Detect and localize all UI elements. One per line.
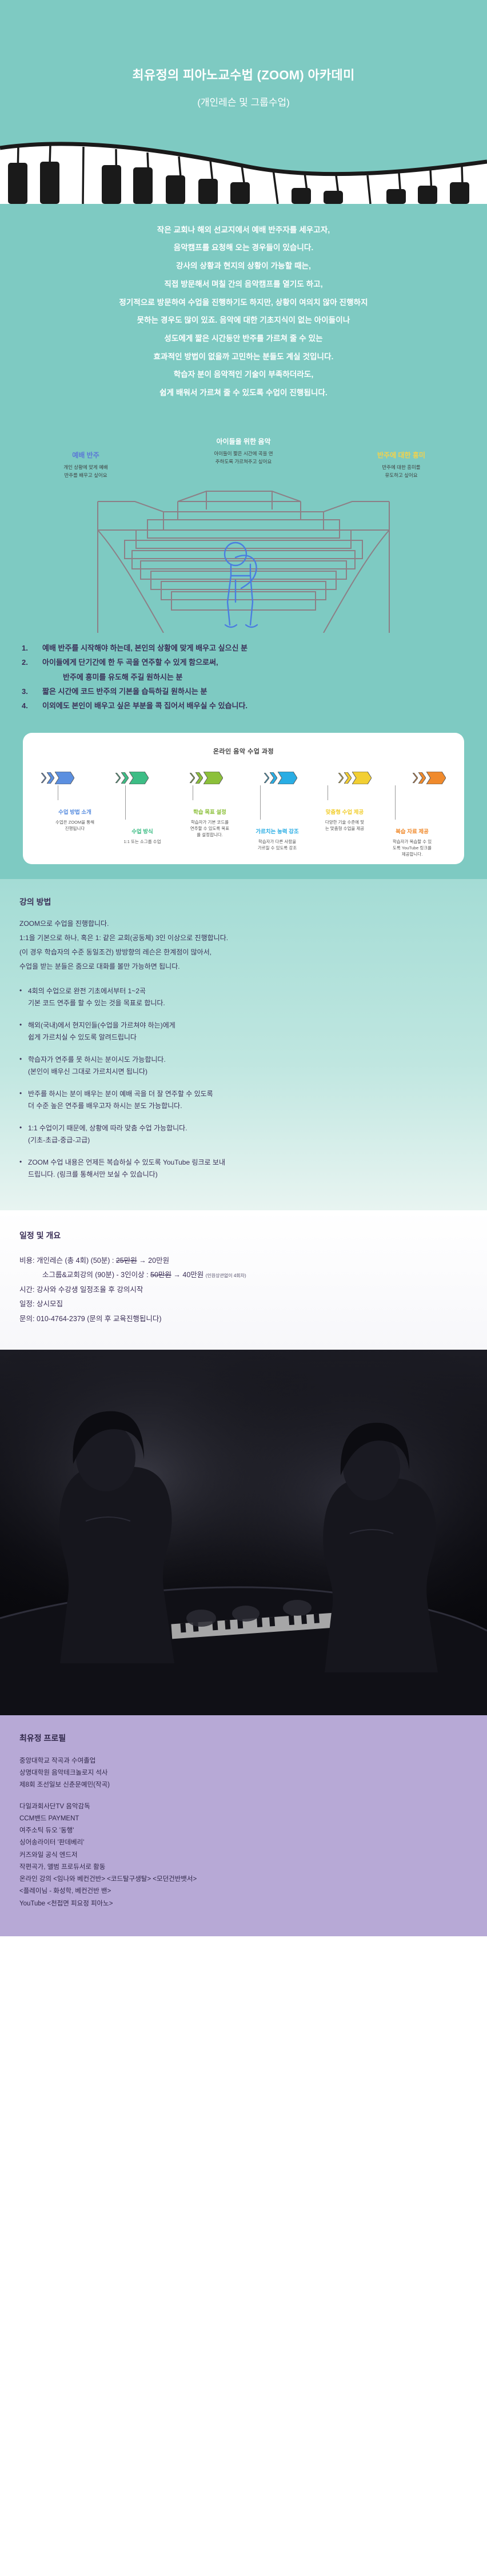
chevron-right-icon: [270, 772, 277, 784]
process-step-2: 수업 방식1:1 또는 소그룹 수업: [106, 829, 178, 845]
chevron-right-icon: [115, 773, 121, 783]
intro-line: 강사의 상황과 현지의 상황이 가능할 때는,: [16, 257, 471, 275]
piano-keys-banner: [0, 132, 487, 204]
bullet-subtext: 더 수준 높은 연주를 배우고자 하시는 분도 가능합니다.: [28, 1100, 468, 1112]
spacer: [0, 864, 487, 879]
process-chevron-6: [413, 772, 446, 784]
list-index: 1.: [22, 641, 34, 655]
bullet-subtext: 기본 코드 연주를 할 수 있는 것을 목표로 합니다.: [28, 997, 468, 1009]
method-bullet: 해외(국내)에서 현지인들(수업을 가르쳐야 하는)에게쉽게 가르치실 수 있도…: [19, 1020, 468, 1044]
profile-line: 온라인 강의 <임나와 베컨건반> <코드탈구생탈> <모던건반뱃서>: [19, 1873, 468, 1885]
step-title: 맞춤형 수업 제공: [309, 809, 381, 816]
bullet-text: 반주를 하시는 분이 배우는 분이 예배 곡을 더 잘 연주할 수 있도록: [28, 1090, 213, 1098]
target-audience-list: 1. 예배 반주를 시작해야 하는데, 본인의 상황에 맞게 배우고 싶으신 분…: [0, 633, 487, 733]
bullet-text: ZOOM 수업 내용은 언제든 복습하실 수 있도록 YouTube 링크로 보…: [28, 1158, 225, 1166]
intro-line: 직접 방문해서 며칠 간의 음악캠프를 열기도 하고,: [16, 275, 471, 294]
chevron-right-icon: [129, 772, 149, 784]
profile-line: 상명대학원 음악테크놀로지 석사: [19, 1767, 468, 1779]
profile-line: 커즈와일 공식 엔드저: [19, 1849, 468, 1861]
chevron-right-icon: [426, 772, 446, 784]
list-text: 예배 반주를 시작해야 하는데, 본인의 상황에 맞게 배우고 싶으신 분: [42, 641, 248, 655]
bullet-text: 해외(국내)에서 현지인들(수업을 가르쳐야 하는)에게: [28, 1021, 175, 1029]
method-lead-line: 1:1을 기본으로 하나, 혹은 1: 같은 교회(공동체) 3인 이상으로 진…: [19, 932, 468, 944]
method-lead-line: (이 경우 학습자의 수준 동일조건) 방방향의 레슨은 한계점이 많아서,: [19, 946, 468, 958]
cost-note: (인원상관없이 4회차): [206, 1273, 246, 1278]
page-title: 최유정의 피아노교수법 (ZOOM) 아카데미: [0, 67, 487, 84]
cost-old-price: 25만원: [116, 1257, 137, 1265]
profile-line: CCM밴드 PAYMENT: [19, 1813, 468, 1825]
process-title: 온라인 음악 수업 과정: [23, 747, 464, 756]
profile-section: 최유정 프로필 중앙대학교 작곡과 수여졸업상명대학원 음악테크놀로지 석사제8…: [0, 1715, 487, 1936]
schedule-contact: 문의: 010-4764-2379 (문의 후 교육진행됩니다): [19, 1312, 468, 1327]
feature-title: 반주에 대한 흥미: [347, 451, 456, 460]
method-bullet: 반주를 하시는 분이 배우는 분이 예배 곡을 더 잘 연주할 수 있도록더 수…: [19, 1088, 468, 1112]
list-index: 4.: [22, 699, 34, 713]
method-bullet: 4회의 수업으로 완전 기초에서부터 1~2곡기본 코드 연주를 할 수 있는 …: [19, 985, 468, 1009]
section-heading-method: 강의 방법: [19, 896, 468, 908]
profile-education-block: 중앙대학교 작곡과 수여졸업상명대학원 음악테크놀로지 석사제8회 조선일보 신…: [19, 1755, 468, 1792]
method-bullet-list: 4회의 수업으로 완전 기초에서부터 1~2곡기본 코드 연주를 할 수 있는 …: [19, 985, 468, 1181]
step-title: 수업 방식: [106, 829, 178, 836]
method-bullet: 1:1 수업이기 때문에, 상황에 따라 맞춤 수업 가능합니다.(기초-초급-…: [19, 1122, 468, 1146]
chevron-right-icon: [121, 772, 129, 784]
cost-line-group: 소그룹&교회강의 (90분) - 3인이상 : 50만원 → 40만원 (인원상…: [19, 1268, 468, 1283]
process-chevron-5: [338, 772, 372, 784]
step-description: 다양한 기술 수준에 맞는 맞춤형 수업을 제공: [309, 819, 381, 832]
bullet-subtext: (본인이 배우신 그대로 가르치시면 됩니다): [28, 1066, 468, 1078]
chevron-right-icon: [195, 772, 203, 784]
process-chevron-3: [190, 772, 223, 784]
feature-desc: 개인 상황에 맞게 예배반주를 배우고 싶어요: [31, 464, 140, 479]
intro-line: 못하는 경우도 많이 있죠. 음악에 대한 기초지식이 없는 아이들이나: [16, 311, 471, 330]
hero-section: 최유정의 피아노교수법 (ZOOM) 아카데미 (개인레슨 및 그룹수업): [0, 0, 487, 132]
online-process-card: 온라인 음악 수업 과정 수업 방법 소개수업은 ZOOM을 통해진행됩니다수업…: [23, 733, 464, 864]
chevron-right-icon: [55, 772, 74, 784]
cost-old-price: 50만원: [150, 1271, 171, 1279]
list-index: 2.: [22, 655, 34, 684]
schedule-date: 일정: 상시모집: [19, 1297, 468, 1312]
feature-title: 아이들을 위한 음악: [189, 438, 298, 447]
feature-music-for-children: 아이들을 위한 음악 아이들이 짧은 시간에 곡을 연주하도록 가르쳐주고 싶어…: [189, 438, 298, 466]
intro-line: 학습자 분이 음악적인 기술이 부족하더라도,: [16, 366, 471, 384]
list-text: 짧은 시간에 코드 반주의 기본을 습득하길 원하시는 분: [42, 684, 207, 699]
feature-worship-accompaniment: 예배 반주 개인 상황에 맞게 예배반주를 배우고 싶어요: [31, 451, 140, 479]
profile-line: 중앙대학교 작곡과 수여졸업: [19, 1755, 468, 1767]
bullet-subtext: 쉽게 가르치실 수 있도록 알려드립니다: [28, 1032, 468, 1044]
cost-new-price: → 20만원: [137, 1257, 169, 1265]
process-chevron-2: [115, 772, 149, 784]
profile-career-block: 다일과회사단TV 음악감독CCM밴드 PAYMENT여주소틱 듀오 '동행'싱어…: [19, 1801, 468, 1910]
step-description: 학습자가 복습할 수 있도록 YouTube 링크를제공합니다.: [376, 838, 448, 858]
profile-line: 제8회 조선일보 신춘문예민(작곡): [19, 1779, 468, 1791]
chevron-right-icon: [413, 773, 418, 783]
method-lead-line: ZOOM으로 수업을 진행합니다.: [19, 918, 468, 930]
process-chevron-4: [264, 772, 297, 784]
list-text-cont: 반주에 흥미를 유도해 주길 원하시는 분: [42, 670, 218, 684]
process-step-1: 수업 방법 소개수업은 ZOOM을 통해진행됩니다: [39, 809, 111, 832]
person-on-stairs-icon: [83, 490, 404, 633]
bullet-text: 4회의 수업으로 완전 기초에서부터 1~2곡: [28, 987, 146, 995]
intro-line: 효과적인 방법이 없을까 고민하는 분들도 계실 것입니다.: [16, 348, 471, 366]
list-item: 4. 이외에도 본인이 배우고 싶은 부분을 콕 집어서 배우실 수 있습니다.: [22, 699, 487, 713]
step-title: 가르치는 능력 강조: [241, 829, 313, 836]
list-text: 아이들에게 단기간에 한 두 곡을 연주할 수 있게 함으로써, 반주에 흥미를…: [42, 655, 218, 684]
step-description: 학습자가 기본 코드를연주할 수 있도록 목표를 설정합니다.: [174, 819, 246, 838]
feature-desc: 반주에 대한 흥미를유도하고 싶어요: [347, 464, 456, 479]
method-bullet: 학습자가 연주를 못 하시는 분이시도 가능합니다.(본인이 배우신 그대로 가…: [19, 1054, 468, 1078]
process-step-6: 복습 자료 제공학습자가 복습할 수 있도록 YouTube 링크를제공합니다.: [376, 829, 448, 858]
chevron-right-icon: [338, 773, 344, 783]
chevron-right-icon: [418, 772, 426, 784]
profile-line: 싱어송라이터 '판데베리': [19, 1837, 468, 1849]
step-description: 수업은 ZOOM을 통해진행됩니다: [39, 819, 111, 832]
profile-line: 작편곡가, 앨범 프로듀서로 활동: [19, 1861, 468, 1873]
stairs-illustration: [0, 490, 487, 633]
feature-desc: 아이들이 짧은 시간에 곡을 연주하도록 가르쳐주고 싶어요: [189, 450, 298, 465]
intro-line: 작은 교회나 해외 선교지에서 예배 반주자를 세우고자,: [16, 221, 471, 239]
cost-line-individual: 비용: 개인레슨 (총 4회) (50분) : 25만원 → 20만원: [19, 1254, 468, 1269]
list-text-main: 아이들에게 단기간에 한 두 곡을 연주할 수 있게 함으로써,: [42, 658, 218, 667]
list-item: 1. 예배 반주를 시작해야 하는데, 본인의 상황에 맞게 배우고 싶으신 분: [22, 641, 487, 655]
process-step-5: 맞춤형 수업 제공다양한 기술 수준에 맞는 맞춤형 수업을 제공: [309, 809, 381, 832]
process-steps: 수업 방법 소개수업은 ZOOM을 통해진행됩니다수업 방식1:1 또는 소그룹…: [23, 793, 464, 848]
schedule-section: 일정 및 개요 비용: 개인레슨 (총 4회) (50분) : 25만원 → 2…: [0, 1210, 487, 1350]
section-heading-profile: 최유정 프로필: [19, 1732, 468, 1744]
page-subtitle: (개인레슨 및 그룹수업): [0, 97, 487, 109]
cost-new-price: → 40만원: [171, 1271, 203, 1279]
cost-text: 소그룹&교회강의 (90분) - 3인이상 :: [42, 1271, 150, 1279]
chevron-right-icon: [203, 772, 223, 784]
intro-section: 작은 교회나 해외 선교지에서 예배 반주자를 세우고자, 음악캠프를 요청해 …: [0, 204, 487, 422]
intro-line: 성도에게 짧은 시간동안 반주를 가르쳐 줄 수 있는: [16, 330, 471, 348]
intro-line: 음악캠프를 요청해 오는 경우들이 있습니다.: [16, 239, 471, 257]
bullet-subtext: (기초-초급-중급-고급): [28, 1134, 468, 1146]
advertisement-page: 최유정의 피아노교수법 (ZOOM) 아카데미 (개인레슨 및 그룹수업): [0, 0, 487, 1936]
process-step-3: 학습 목표 설정학습자가 기본 코드를연주할 수 있도록 목표를 설정합니다.: [174, 809, 246, 838]
cost-label: 비용:: [19, 1257, 34, 1265]
step-description: 1:1 또는 소그룹 수업: [106, 838, 178, 845]
process-step-4: 가르치는 능력 강조학습자가 다른 사람을가르칠 수 있도록 강조: [241, 829, 313, 852]
chevron-right-icon: [264, 773, 269, 783]
intro-line: 쉽게 배워서 가르쳐 줄 수 있도록 수업이 진행됩니다.: [16, 384, 471, 402]
process-chevron-1: [41, 772, 74, 784]
profile-line: 다일과회사단TV 음악감독: [19, 1801, 468, 1813]
section-heading-schedule: 일정 및 개요: [19, 1230, 468, 1241]
piano-lesson-photo: [0, 1350, 487, 1715]
process-chevron-row: [23, 771, 464, 785]
feature-interest-in-accompaniment: 반주에 대한 흥미 반주에 대한 흥미를유도하고 싶어요: [347, 451, 456, 479]
cost-text: 개인레슨 (총 4회) (50분) :: [37, 1257, 116, 1265]
piano-keys-icon: [0, 132, 487, 204]
list-item: 2. 아이들에게 단기간에 한 두 곡을 연주할 수 있게 함으로써, 반주에 …: [22, 655, 487, 684]
two-women-at-piano-photo: [0, 1350, 487, 1715]
list-text: 이외에도 본인이 배우고 싶은 부분을 콕 집어서 배우실 수 있습니다.: [42, 699, 248, 713]
chevron-right-icon: [47, 772, 54, 784]
method-section: 강의 방법 ZOOM으로 수업을 진행합니다. 1:1을 기본으로 하나, 혹은…: [0, 879, 487, 1210]
chevron-right-icon: [278, 772, 297, 784]
step-title: 복습 자료 제공: [376, 829, 448, 836]
list-index: 3.: [22, 684, 34, 699]
feature-title: 예배 반주: [31, 451, 140, 460]
features-section: 예배 반주 개인 상황에 맞게 예배반주를 배우고 싶어요 아이들을 위한 음악…: [0, 422, 487, 490]
bullet-text: 1:1 수업이기 때문에, 상황에 따라 맞춤 수업 가능합니다.: [28, 1124, 187, 1132]
profile-line: 여주소틱 듀오 '동행': [19, 1825, 468, 1837]
method-lead-line: 수업을 받는 분들은 줌으로 대화를 볼만 가능하면 됩니다.: [19, 961, 468, 973]
profile-line: YouTube <천접면 피요정 피아노>: [19, 1898, 468, 1910]
method-bullet: ZOOM 수업 내용은 언제든 복습하실 수 있도록 YouTube 링크로 보…: [19, 1157, 468, 1181]
step-description: 학습자가 다른 사람을가르칠 수 있도록 강조: [241, 838, 313, 852]
bullet-subtext: 드립니다. (링크를 통해서만 보실 수 있습니다): [28, 1169, 468, 1181]
process-card-backdrop: 온라인 음악 수업 과정 수업 방법 소개수업은 ZOOM을 통해진행됩니다수업…: [0, 733, 487, 864]
schedule-time: 시간: 강사와 수강생 일정조율 후 강의시작: [19, 1283, 468, 1298]
list-item: 3. 짧은 시간에 코드 반주의 기본을 습득하길 원하시는 분: [22, 684, 487, 699]
chevron-right-icon: [344, 772, 352, 784]
chevron-right-icon: [190, 773, 195, 783]
chevron-right-icon: [41, 773, 46, 783]
profile-line: <플레이님 - 화성학, 베컨건반 밴>: [19, 1885, 468, 1897]
chevron-right-icon: [352, 772, 372, 784]
step-title: 학습 목표 설정: [174, 809, 246, 816]
step-title: 수업 방법 소개: [39, 809, 111, 816]
bullet-text: 학습자가 연주를 못 하시는 분이시도 가능합니다.: [28, 1056, 166, 1064]
intro-line: 정기적으로 방문하여 수업을 진행하기도 하지만, 상황이 여의치 않아 진행하…: [16, 294, 471, 312]
